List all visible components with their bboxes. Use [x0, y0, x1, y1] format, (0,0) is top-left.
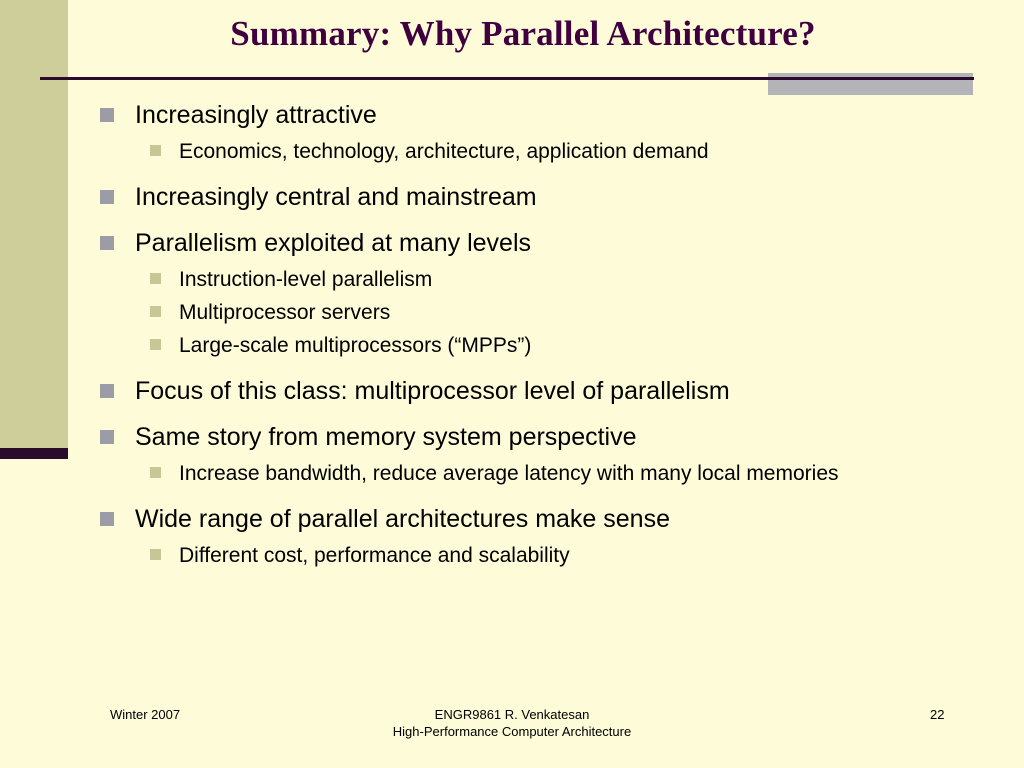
bullet-item-level1: Increasingly attractive: [100, 99, 980, 131]
bullet-item-level2: Economics, technology, architecture, app…: [100, 137, 980, 167]
bullet-item-level2: Instruction-level parallelism: [100, 265, 980, 295]
square-bullet-icon: [100, 108, 114, 122]
square-bullet-icon: [100, 430, 114, 444]
bullet-item-level1: Parallelism exploited at many levels: [100, 227, 980, 259]
bullet-label: Multiprocessor servers: [179, 298, 879, 328]
header-divider-rule: [40, 77, 974, 80]
slide-page-number: 22: [930, 706, 944, 723]
bullet-label: Wide range of parallel architectures mak…: [135, 503, 980, 535]
bullet-label: Increasingly central and mainstream: [135, 181, 980, 213]
bullet-label: Increasingly attractive: [135, 99, 980, 131]
square-bullet-icon: [150, 467, 161, 478]
footer-course-title: High-Performance Computer Architecture: [262, 723, 762, 740]
bullet-item-level1: Same story from memory system perspectiv…: [100, 421, 980, 453]
left-accent-bar: [0, 448, 68, 459]
bullet-item-level2: Large-scale multiprocessors (“MPPs”): [100, 331, 980, 361]
bullet-label: Focus of this class: multiprocessor leve…: [135, 375, 980, 407]
bullet-item-level2: Increase bandwidth, reduce average laten…: [100, 459, 980, 489]
bullet-label: Same story from memory system perspectiv…: [135, 421, 980, 453]
bullet-item-level1: Wide range of parallel architectures mak…: [100, 503, 980, 535]
bullet-label: Different cost, performance and scalabil…: [179, 541, 879, 571]
square-bullet-icon: [150, 145, 161, 156]
slide-canvas: Summary: Why Parallel Architecture? Incr…: [0, 0, 1024, 768]
square-bullet-icon: [150, 273, 161, 284]
left-decorative-band: [0, 0, 68, 448]
bullet-item-level1: Increasingly central and mainstream: [100, 181, 980, 213]
bullet-label: Economics, technology, architecture, app…: [179, 137, 879, 167]
bullet-item-level2: Multiprocessor servers: [100, 298, 980, 328]
square-bullet-icon: [150, 339, 161, 350]
bullet-label: Instruction-level parallelism: [179, 265, 879, 295]
bullet-list: Increasingly attractiveEconomics, techno…: [100, 99, 980, 571]
bullet-label: Increase bandwidth, reduce average laten…: [179, 459, 879, 489]
bullet-item-level2: Different cost, performance and scalabil…: [100, 541, 980, 571]
bullet-item-level1: Focus of this class: multiprocessor leve…: [100, 375, 980, 407]
square-bullet-icon: [100, 190, 114, 204]
square-bullet-icon: [150, 549, 161, 560]
footer-course-info: ENGR9861 R. Venkatesan High-Performance …: [262, 706, 762, 740]
footer-course-code: ENGR9861 R. Venkatesan: [435, 707, 590, 722]
footer-term: Winter 2007: [110, 706, 180, 723]
bullet-label: Parallelism exploited at many levels: [135, 227, 980, 259]
bullet-label: Large-scale multiprocessors (“MPPs”): [179, 331, 879, 361]
square-bullet-icon: [100, 236, 114, 250]
page-title: Summary: Why Parallel Architecture?: [68, 14, 978, 54]
square-bullet-icon: [100, 384, 114, 398]
square-bullet-icon: [150, 306, 161, 317]
square-bullet-icon: [100, 512, 114, 526]
